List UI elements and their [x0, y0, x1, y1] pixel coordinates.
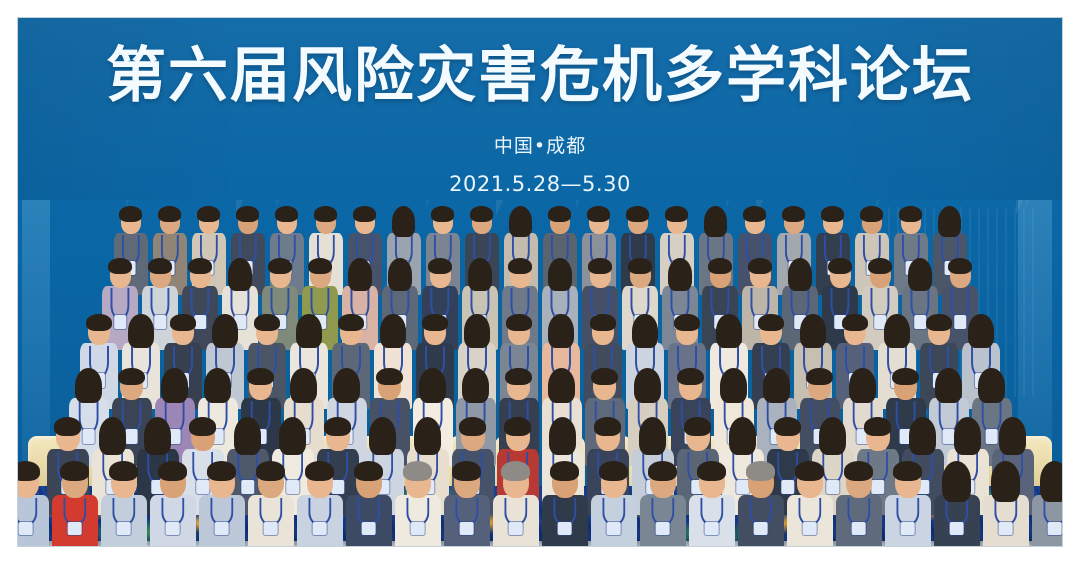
attendee-head — [355, 210, 375, 234]
attendee-hair — [296, 314, 321, 348]
attendee-head — [846, 466, 872, 498]
attendee-hair — [333, 368, 359, 404]
attendee-hair — [464, 314, 489, 348]
attendee-hair — [909, 417, 936, 454]
attendee-badge — [753, 522, 768, 535]
attendee-torso — [885, 495, 931, 546]
attendee-torso — [689, 495, 735, 546]
attendee-hair — [935, 368, 961, 404]
attendee-head — [382, 318, 404, 345]
attendee-hair — [376, 368, 402, 386]
attendee-head — [371, 422, 395, 451]
attendee-hair — [819, 417, 846, 454]
attendee-hair — [548, 368, 574, 404]
attendee-hair — [207, 461, 237, 481]
attendee-head — [550, 262, 571, 288]
attendee-hair — [506, 314, 531, 331]
attendee-head — [430, 262, 451, 288]
attendee-head — [307, 466, 333, 498]
attendee-hair — [380, 314, 405, 348]
attendee-badge — [214, 522, 229, 535]
attendee-head — [172, 318, 194, 345]
attendee-hair — [509, 206, 532, 237]
attendee-hair — [549, 417, 576, 454]
attendee-badge — [331, 480, 344, 495]
attendee-badge — [67, 522, 82, 535]
attendee-badge — [508, 522, 523, 535]
attendee-hair — [991, 461, 1021, 502]
attendee-head — [236, 422, 260, 451]
attendee-hair — [665, 206, 688, 222]
attendee-hair — [354, 461, 384, 481]
attendee-hair — [758, 314, 783, 331]
attendee-hair — [800, 314, 825, 348]
attendee-torso — [18, 495, 49, 546]
attendee-hair — [746, 461, 776, 481]
attendee-head — [866, 422, 890, 451]
attendee-hair — [99, 417, 126, 454]
attendee-head — [808, 372, 831, 400]
attendee-head — [464, 372, 487, 400]
attendee-head — [507, 372, 530, 400]
attendee-head — [592, 318, 614, 345]
attendee-torso — [787, 495, 833, 546]
attendee-hair — [86, 314, 111, 331]
attendee-head — [851, 372, 874, 400]
attendee-badge — [704, 522, 719, 535]
attendee-head — [206, 372, 229, 400]
attendee-head — [862, 210, 882, 234]
attendee-hair — [462, 368, 488, 404]
attendee-hair — [504, 417, 531, 436]
attendee-hair — [204, 368, 230, 404]
attendee-hair — [788, 258, 812, 291]
attendee-hair — [626, 206, 649, 222]
attendee-hair — [587, 206, 610, 222]
attendee-head — [748, 466, 774, 498]
attendee-hair — [908, 258, 932, 291]
attendee-head — [508, 318, 530, 345]
attendee-badge — [802, 522, 817, 535]
attendee-head — [823, 210, 843, 234]
attendee-hair — [305, 461, 335, 481]
attendee-head — [722, 372, 745, 400]
attendee-head — [802, 318, 824, 345]
attendee-head — [956, 422, 980, 451]
attendee-head — [150, 262, 171, 288]
attendee-hair — [247, 368, 273, 386]
attendee-badge — [154, 315, 166, 329]
attendee-head — [993, 466, 1019, 498]
attendee-head — [784, 210, 804, 234]
attendee-badge — [312, 522, 327, 535]
attendee-hair — [849, 368, 875, 404]
attendee-hair — [844, 461, 874, 481]
attendee-hair — [508, 258, 532, 274]
attendee-hair — [588, 258, 612, 274]
attendee-head — [160, 210, 180, 234]
attendee-torso — [640, 495, 686, 546]
attendee-hair — [392, 206, 415, 237]
screenshot-root: 第六届风险灾害危机多学科论坛 中国•成都 2021.5.28—5.30 — [0, 0, 1080, 575]
attendee-head — [466, 318, 488, 345]
attendee-head — [596, 422, 620, 451]
attendee-hair — [668, 258, 692, 291]
attendee-hair — [128, 314, 153, 348]
attendee-head — [552, 466, 578, 498]
attendee-hair — [795, 461, 825, 481]
attendee-badge — [900, 522, 915, 535]
attendee-head — [970, 318, 992, 345]
attendee-hair — [290, 368, 316, 404]
attendee-hair — [550, 461, 580, 481]
attendee-head — [292, 372, 315, 400]
attendee-head — [110, 262, 131, 288]
attendee-head — [550, 372, 573, 400]
attendee-badge — [361, 522, 376, 535]
attendee-hair — [639, 417, 666, 454]
attendee-hair — [954, 417, 981, 454]
attendee-hair — [403, 461, 433, 481]
attendee-hair — [821, 206, 844, 222]
attendee-hair — [708, 258, 732, 274]
attendee-head — [199, 210, 219, 234]
attendee-hair — [54, 417, 81, 436]
attendee-hair — [314, 206, 337, 222]
attendee-hair — [774, 417, 801, 436]
attendee-head — [686, 422, 710, 451]
attendee-head — [101, 422, 125, 451]
attendee-head — [667, 210, 687, 234]
attendee-badge — [1047, 522, 1062, 535]
attendee-badge — [606, 522, 621, 535]
attendee-hair — [353, 206, 376, 222]
poster-dates: 2021.5.28—5.30 — [18, 172, 1062, 197]
attendee-hair — [505, 368, 531, 386]
attendee-head — [111, 466, 137, 498]
attendee-head — [270, 262, 291, 288]
attendee-hair — [234, 417, 261, 454]
attendee-torso — [934, 495, 980, 546]
attendee-head — [146, 422, 170, 451]
attendee-head — [944, 466, 970, 498]
attendee-torso — [542, 495, 588, 546]
attendee-head — [461, 422, 485, 451]
attendee-torso — [199, 495, 245, 546]
attendee-head — [56, 422, 80, 451]
attendee-hair — [648, 461, 678, 481]
attendee-head — [601, 466, 627, 498]
attendee-badge — [914, 315, 926, 329]
attendee-torso — [836, 495, 882, 546]
attendee-head — [163, 372, 186, 400]
attendee-head — [886, 318, 908, 345]
attendee-badge — [165, 522, 180, 535]
attendee-hair — [268, 258, 292, 274]
attendee-head — [335, 372, 358, 400]
attendee-head — [636, 372, 659, 400]
attendee-badge — [114, 315, 126, 329]
attendee-hair — [782, 206, 805, 222]
attendee-head — [281, 422, 305, 451]
attendee-head — [506, 422, 530, 451]
attendee-head — [937, 372, 960, 400]
attendee-hair — [926, 314, 951, 331]
attendee-head — [421, 372, 444, 400]
attendee-head — [230, 262, 251, 288]
attendee-hair — [999, 417, 1026, 454]
attendee-head — [870, 262, 891, 288]
attendee-hair — [422, 314, 447, 331]
attendee-head — [731, 422, 755, 451]
attendee-head — [765, 372, 788, 400]
attendee-head — [844, 318, 866, 345]
attendee-hair — [18, 461, 40, 481]
attendee-badge — [655, 522, 670, 535]
attendee-head — [980, 372, 1003, 400]
attendee-head — [190, 262, 211, 288]
attendee-head — [928, 318, 950, 345]
attendee-hair — [324, 417, 351, 436]
attendee-hair — [60, 461, 90, 481]
attendee-hair — [548, 258, 572, 291]
attendee-badge — [18, 522, 33, 535]
attendee-head — [394, 210, 414, 234]
attendee-hair — [704, 206, 727, 237]
attendee-head — [77, 372, 100, 400]
attendee-head — [676, 318, 698, 345]
attendee-head — [209, 466, 235, 498]
attendee-hair — [414, 417, 441, 454]
attendee-hair — [591, 368, 617, 386]
poster-location: 中国•成都 — [18, 135, 1062, 158]
attendee-head — [670, 262, 691, 288]
attendee-hair — [1040, 461, 1062, 502]
attendee-hair — [860, 206, 883, 222]
attendee-head — [628, 210, 648, 234]
attendee-head — [1042, 466, 1063, 498]
attendee-hair — [470, 206, 493, 222]
attendee-hair — [763, 368, 789, 404]
attendee-badge — [241, 480, 254, 495]
attendee-head — [895, 466, 921, 498]
attendee-badge — [781, 480, 794, 495]
attendee-head — [356, 466, 382, 498]
attendee-head — [550, 210, 570, 234]
attendee-head — [214, 318, 236, 345]
attendee-head — [454, 466, 480, 498]
group-photo — [18, 200, 1062, 546]
attendee-hair — [743, 206, 766, 222]
attendee-hair — [108, 258, 132, 274]
attendee-hair — [828, 258, 852, 274]
attendee-head — [821, 422, 845, 451]
attendee-hair — [148, 258, 172, 274]
attendee-head — [310, 262, 331, 288]
attendee-head — [1001, 422, 1025, 451]
attendee-hair — [842, 314, 867, 331]
attendee-torso — [52, 495, 98, 546]
attendee-hair — [468, 258, 492, 291]
attendee-hair — [308, 258, 332, 274]
attendee-badge — [196, 480, 209, 495]
attendee-hair — [716, 314, 741, 348]
attendee-head — [745, 210, 765, 234]
attendee-badge — [954, 315, 966, 329]
attendee-badge — [116, 522, 131, 535]
attendee-head — [950, 262, 971, 288]
attendee-badge — [949, 522, 964, 535]
attendee-hair — [75, 368, 101, 404]
attendee-hair — [431, 206, 454, 222]
attendee-torso — [738, 495, 784, 546]
attendee-head — [511, 210, 531, 234]
page-title: 第六届风险灾害危机多学科论坛 — [18, 18, 1062, 113]
attendee-hair — [501, 461, 531, 481]
attendee-hair — [144, 417, 171, 454]
attendee-head — [750, 262, 771, 288]
attendee-torso — [395, 495, 441, 546]
attendee-head — [416, 422, 440, 451]
attendee-head — [256, 318, 278, 345]
attendee-hair — [677, 368, 703, 386]
attendee-hair — [948, 258, 972, 274]
attendee-badge — [194, 315, 206, 329]
attendee-badge — [82, 429, 95, 444]
attendee-badge — [459, 522, 474, 535]
attendee-badge — [557, 522, 572, 535]
attendee-head — [650, 466, 676, 498]
attendee-torso — [346, 495, 392, 546]
attendee-head — [326, 422, 350, 451]
attendee-head — [258, 466, 284, 498]
attendee-badge — [942, 429, 955, 444]
attendee-hair — [938, 206, 961, 237]
attendee-head — [593, 372, 616, 400]
attendee-hair — [978, 368, 1004, 404]
attendee-hair — [459, 417, 486, 436]
attendee-head — [901, 210, 921, 234]
attendee-torso — [1032, 495, 1063, 546]
attendee-hair — [684, 417, 711, 436]
attendee-hair — [197, 206, 220, 222]
attendee-head — [121, 210, 141, 234]
attendee-head — [470, 262, 491, 288]
attendee-head — [18, 466, 39, 498]
attendee-badge — [286, 480, 299, 495]
attendee-hair — [109, 461, 139, 481]
attendee-hair — [892, 368, 918, 386]
attendee-head — [797, 466, 823, 498]
attendee-hair — [806, 368, 832, 386]
attendee-torso — [591, 495, 637, 546]
attendee-torso — [493, 495, 539, 546]
attendee-hair — [189, 417, 216, 436]
attendee-hair — [942, 461, 972, 502]
attendee-hair — [599, 461, 629, 481]
attendee-hair — [594, 417, 621, 436]
attendee-head — [378, 372, 401, 400]
attendee-hair — [884, 314, 909, 348]
attendee-head — [551, 422, 575, 451]
attendee-head — [424, 318, 446, 345]
attendee-badge — [851, 522, 866, 535]
attendee-hair — [170, 314, 195, 331]
attendee-hair — [864, 417, 891, 436]
attendee-head — [894, 372, 917, 400]
attendee-head — [160, 466, 186, 498]
attendee-head — [630, 262, 651, 288]
attendee-hair — [428, 258, 452, 274]
attendee-head — [62, 466, 88, 498]
attendee-hair — [119, 206, 142, 222]
attendee-head — [634, 318, 656, 345]
attendee-hair — [634, 368, 660, 404]
attendee-hair — [161, 368, 187, 404]
attendee-head — [340, 318, 362, 345]
attendee-head — [699, 466, 725, 498]
attendee-hair — [338, 314, 363, 331]
attendee-head — [298, 318, 320, 345]
attendee-hair — [158, 461, 188, 481]
attendee-badge — [985, 429, 998, 444]
attendee-head — [316, 210, 336, 234]
attendee-head — [238, 210, 258, 234]
attendee-hair — [275, 206, 298, 222]
attendee-hair — [228, 258, 252, 291]
attendee-head — [679, 372, 702, 400]
attendee-head — [706, 210, 726, 234]
attendee-torso — [983, 495, 1029, 546]
attendee-hair — [158, 206, 181, 222]
attendee-badge — [410, 522, 425, 535]
attendee-hair — [628, 258, 652, 274]
attendee-head — [790, 262, 811, 288]
attendee-head — [550, 318, 572, 345]
attendee-head — [191, 422, 215, 451]
attendee-hair — [968, 314, 993, 348]
attendee-head — [277, 210, 297, 234]
attendee-hair — [893, 461, 923, 481]
attendee-head — [718, 318, 740, 345]
attendee-head — [641, 422, 665, 451]
attendee-torso — [248, 495, 294, 546]
attendee-hair — [212, 314, 237, 348]
attendee-head — [589, 210, 609, 234]
attendee-hair — [674, 314, 699, 331]
attendee-head — [350, 262, 371, 288]
attendee-hair — [348, 258, 372, 291]
attendee-badge — [125, 429, 138, 444]
attendee-hair — [868, 258, 892, 274]
attendee-hair — [452, 461, 482, 481]
attendee-head — [390, 262, 411, 288]
attendee-head — [433, 210, 453, 234]
attendee-hair — [697, 461, 727, 481]
attendee-hair — [419, 368, 445, 404]
attendee-head — [911, 422, 935, 451]
attendee-badge — [998, 522, 1013, 535]
attendee-hair — [590, 314, 615, 331]
attendee-torso — [297, 495, 343, 546]
attendee-head — [503, 466, 529, 498]
attendee-hair — [256, 461, 286, 481]
attendee-hair — [729, 417, 756, 454]
attendee-head — [88, 318, 110, 345]
attendee-head — [910, 262, 931, 288]
attendee-hair — [388, 258, 412, 291]
attendee-hair — [748, 258, 772, 274]
